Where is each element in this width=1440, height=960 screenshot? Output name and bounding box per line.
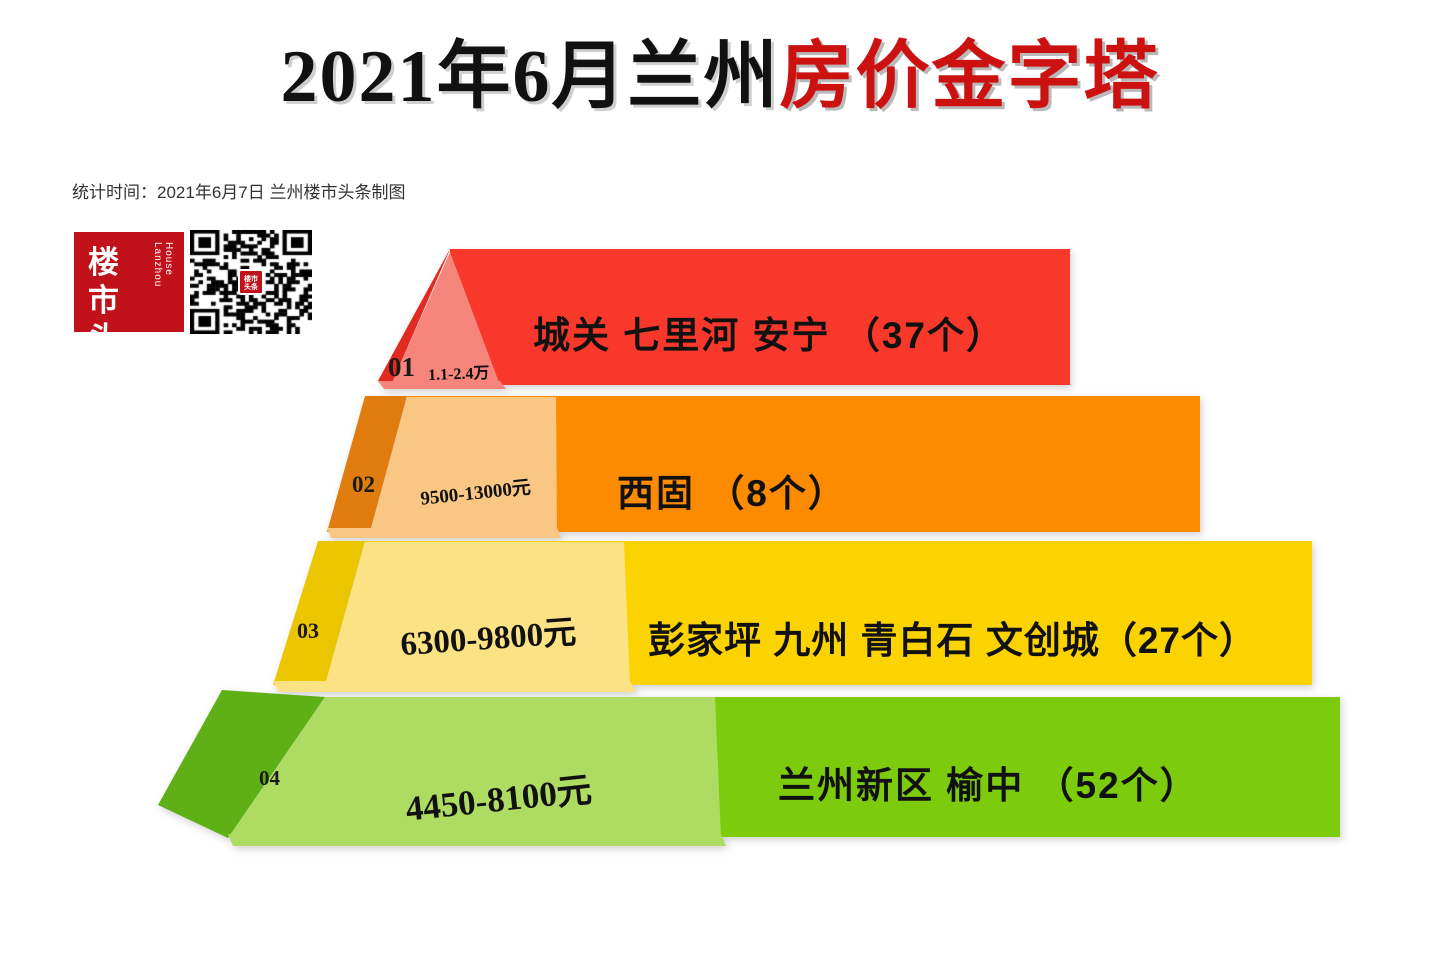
level-4-rank: 04: [259, 766, 280, 791]
level-4-description: 兰州新区 榆中 （52个）: [778, 755, 1199, 809]
level-2-rank: 02: [352, 472, 375, 498]
level-1-description: 城关 七里河 安宁 （37个）: [533, 305, 1005, 359]
level-1-price-range: 1.1-2.4万: [428, 359, 490, 385]
level-1-rank: 01: [388, 352, 415, 383]
level-3-rank: 03: [297, 618, 319, 644]
level-3-description: 彭家坪 九州 青白石 文创城（27个）: [648, 610, 1257, 664]
level-2-description: 西固 （8个）: [617, 463, 847, 517]
level-2-base-edge: [327, 528, 561, 538]
level-3-base-edge: [273, 681, 636, 692]
level-4-base-edge: [228, 834, 726, 846]
